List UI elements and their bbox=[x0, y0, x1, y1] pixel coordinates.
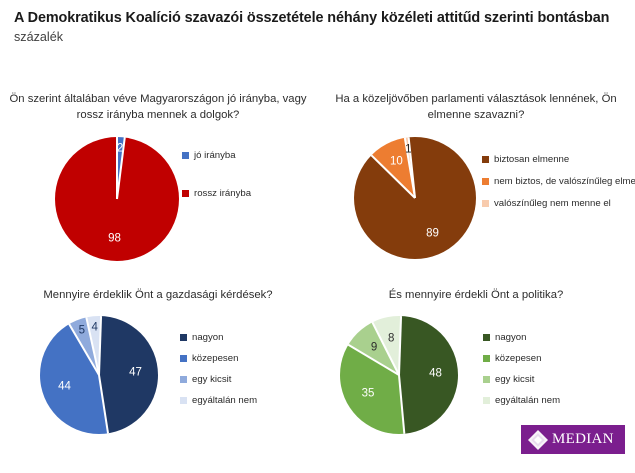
legend-item[interactable]: egy kicsit bbox=[180, 374, 257, 386]
diamond-icon bbox=[527, 429, 549, 451]
legend-item[interactable]: rossz irányba bbox=[182, 188, 251, 200]
legend-label: jó irányba bbox=[194, 150, 236, 162]
chart-panel-2: Mennyire érdeklik Önt a gazdasági kérdés… bbox=[0, 288, 317, 473]
chart-legend-0: jó iránybarossz irányba bbox=[182, 150, 251, 226]
header: A Demokratikus Koalíció szavazói összeté… bbox=[14, 8, 614, 46]
pie-chart-0: 298 bbox=[55, 137, 179, 261]
legend-swatch-icon bbox=[483, 397, 490, 404]
legend-swatch-icon bbox=[180, 376, 187, 383]
legend-swatch-icon bbox=[482, 200, 489, 207]
chart-legend-1: biztosan elmennenem biztos, de valószínű… bbox=[482, 154, 635, 220]
legend-item[interactable]: nem biztos, de valószínűleg elmenne bbox=[482, 176, 635, 188]
legend-label: rossz irányba bbox=[194, 188, 251, 200]
chart-title-0: Ön szerint általában véve Magyarországon… bbox=[8, 92, 308, 123]
legend-swatch-icon bbox=[180, 334, 187, 341]
legend-item[interactable]: közepesen bbox=[180, 353, 257, 365]
legend-item[interactable]: jó irányba bbox=[182, 150, 251, 162]
legend-label: közepesen bbox=[192, 353, 238, 365]
legend-item[interactable]: valószínűleg nem menne el bbox=[482, 198, 635, 210]
legend-label: közepesen bbox=[495, 353, 541, 365]
legend-swatch-icon bbox=[483, 376, 490, 383]
chart-title-2: Mennyire érdeklik Önt a gazdasági kérdés… bbox=[8, 288, 308, 304]
pie-chart-3: 483598 bbox=[340, 316, 458, 434]
legend-swatch-icon bbox=[483, 334, 490, 341]
legend-swatch-icon bbox=[180, 397, 187, 404]
legend-item[interactable]: közepesen bbox=[483, 353, 560, 365]
legend-label: egy kicsit bbox=[192, 374, 231, 386]
legend-swatch-icon bbox=[182, 190, 189, 197]
chart-panel-1: Ha a közeljövőben parlamenti választások… bbox=[318, 92, 635, 277]
legend-swatch-icon bbox=[180, 355, 187, 362]
chart-legend-3: nagyonközepesenegy kicsitegyáltalán nem bbox=[483, 332, 560, 416]
pie-chart-2: 474454 bbox=[40, 316, 158, 434]
median-logo-text: MEDIAN bbox=[552, 431, 614, 448]
legend-swatch-icon bbox=[482, 178, 489, 185]
legend-label: nagyon bbox=[192, 332, 223, 344]
chart-panel-0: Ön szerint általában véve Magyarországon… bbox=[0, 92, 317, 277]
legend-item[interactable]: egyáltalán nem bbox=[483, 395, 560, 407]
legend-item[interactable]: nagyon bbox=[180, 332, 257, 344]
legend-item[interactable]: egy kicsit bbox=[483, 374, 560, 386]
legend-label: biztosan elmenne bbox=[494, 154, 569, 166]
legend-label: nagyon bbox=[495, 332, 526, 344]
legend-label: egy kicsit bbox=[495, 374, 534, 386]
legend-label: nem biztos, de valószínűleg elmenne bbox=[494, 176, 635, 188]
legend-item[interactable]: nagyon bbox=[483, 332, 560, 344]
legend-item[interactable]: egyáltalán nem bbox=[180, 395, 257, 407]
legend-item[interactable]: biztosan elmenne bbox=[482, 154, 635, 166]
pie-chart-1: 89101 bbox=[354, 137, 476, 259]
chart-title-1: Ha a közeljövőben parlamenti választások… bbox=[326, 92, 626, 123]
chart-legend-2: nagyonközepesenegy kicsitegyáltalán nem bbox=[180, 332, 257, 416]
legend-label: valószínűleg nem menne el bbox=[494, 198, 611, 210]
page-title: A Demokratikus Koalíció szavazói összeté… bbox=[14, 8, 614, 28]
legend-label: egyáltalán nem bbox=[495, 395, 560, 407]
legend-swatch-icon bbox=[182, 152, 189, 159]
page-subtitle: százalék bbox=[14, 30, 614, 45]
median-logo: MEDIAN bbox=[521, 425, 625, 454]
legend-swatch-icon bbox=[483, 355, 490, 362]
chart-title-3: És mennyire érdekli Önt a politika? bbox=[326, 288, 626, 304]
legend-label: egyáltalán nem bbox=[192, 395, 257, 407]
legend-swatch-icon bbox=[482, 156, 489, 163]
